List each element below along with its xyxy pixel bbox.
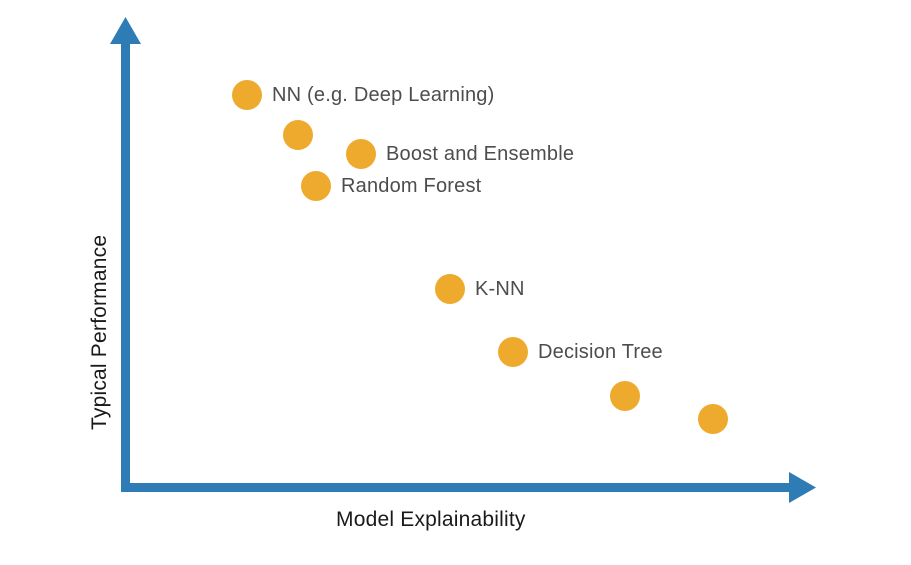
data-point-dot [346, 139, 376, 169]
data-point-dot [301, 171, 331, 201]
data-point-dot [698, 404, 728, 434]
data-point-label: K-NN [475, 279, 525, 299]
data-point-dot [435, 274, 465, 304]
data-point-label: Random Forest [341, 176, 481, 196]
x-axis-line [121, 483, 791, 492]
y-axis-line [121, 42, 130, 492]
data-point-dot [283, 120, 313, 150]
chart-canvas: Typical Performance Model Explainability… [0, 0, 911, 565]
data-point-label: Boost and Ensemble [386, 144, 574, 164]
data-point-dot [232, 80, 262, 110]
x-axis-title: Model Explainability [336, 508, 526, 532]
data-point-label: NN (e.g. Deep Learning) [272, 85, 495, 105]
data-point-dot [498, 337, 528, 367]
y-axis-title: Typical Performance [88, 235, 112, 430]
arrow-up-icon [110, 17, 141, 44]
data-point-label: Decision Tree [538, 342, 663, 362]
data-point-dot [610, 381, 640, 411]
arrow-right-icon [789, 472, 816, 503]
